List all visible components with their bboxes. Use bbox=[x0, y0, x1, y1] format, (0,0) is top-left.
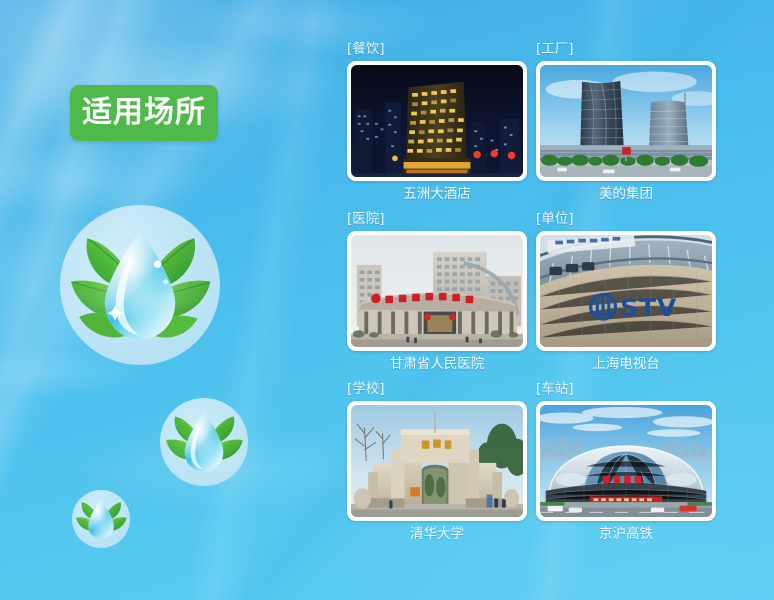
tsinghua-gate-photo bbox=[351, 405, 523, 517]
venue-cell-institution[interactable]: [单位] bbox=[536, 210, 716, 374]
section-title-label: 适用场所 bbox=[82, 98, 206, 128]
venue-caption: 京沪高铁 bbox=[536, 521, 716, 544]
venue-photo-card[interactable] bbox=[347, 401, 527, 521]
water-drop-leaf-logo-large bbox=[60, 205, 220, 365]
drop-leaf-graphic-medium bbox=[160, 398, 248, 486]
venue-category-label: [车站] bbox=[536, 380, 716, 398]
midea-towers-photo bbox=[540, 65, 712, 177]
water-drop-leaf-logo-small bbox=[72, 490, 130, 548]
stv-building-photo: STV bbox=[540, 235, 712, 347]
venue-category-label: [学校] bbox=[347, 380, 527, 398]
venue-category-label: [医院] bbox=[347, 210, 527, 228]
venue-photo-grid: [餐饮] bbox=[347, 40, 731, 550]
gate-inscription bbox=[422, 440, 452, 449]
venue-cell-factory[interactable]: [工厂] bbox=[536, 40, 716, 204]
venue-cell-hospital[interactable]: [医院] bbox=[347, 210, 527, 374]
section-title-badge: 适用场所 bbox=[70, 85, 218, 141]
venue-caption: 美的集团 bbox=[536, 181, 716, 204]
venue-row-2: [医院] bbox=[347, 210, 731, 374]
stv-logo: STV bbox=[591, 293, 678, 322]
venue-photo-card[interactable] bbox=[347, 231, 527, 351]
venue-category-label: [单位] bbox=[536, 210, 716, 228]
venue-cell-school[interactable]: [学校] bbox=[347, 380, 527, 544]
water-drop-leaf-logo-medium bbox=[160, 398, 248, 486]
venue-caption: 上海电视台 bbox=[536, 351, 716, 374]
venue-caption: 五洲大酒店 bbox=[347, 181, 527, 204]
venue-caption: 甘肃省人民医院 bbox=[347, 351, 527, 374]
venue-category-label: [工厂] bbox=[536, 40, 716, 58]
venue-category-label: [餐饮] bbox=[347, 40, 527, 58]
venue-photo-card[interactable] bbox=[536, 401, 716, 521]
drop-leaf-graphic-small bbox=[72, 490, 130, 548]
svg-text:STV: STV bbox=[620, 293, 677, 322]
venue-photo-card[interactable]: STV bbox=[536, 231, 716, 351]
venue-photo-card[interactable] bbox=[347, 61, 527, 181]
venue-cell-restaurant[interactable]: [餐饮] bbox=[347, 40, 527, 204]
hospital-building-photo bbox=[351, 235, 523, 347]
venue-caption: 清华大学 bbox=[347, 521, 527, 544]
venue-row-1: [餐饮] bbox=[347, 40, 731, 204]
drop-leaf-graphic-large bbox=[60, 205, 220, 365]
venue-cell-station[interactable]: [车站] bbox=[536, 380, 716, 544]
railway-station-photo bbox=[540, 405, 712, 517]
venue-row-3: [学校] bbox=[347, 380, 731, 544]
poster-canvas: 适用场所 bbox=[0, 0, 774, 600]
venue-photo-card[interactable] bbox=[536, 61, 716, 181]
hotel-night-photo bbox=[351, 65, 523, 177]
